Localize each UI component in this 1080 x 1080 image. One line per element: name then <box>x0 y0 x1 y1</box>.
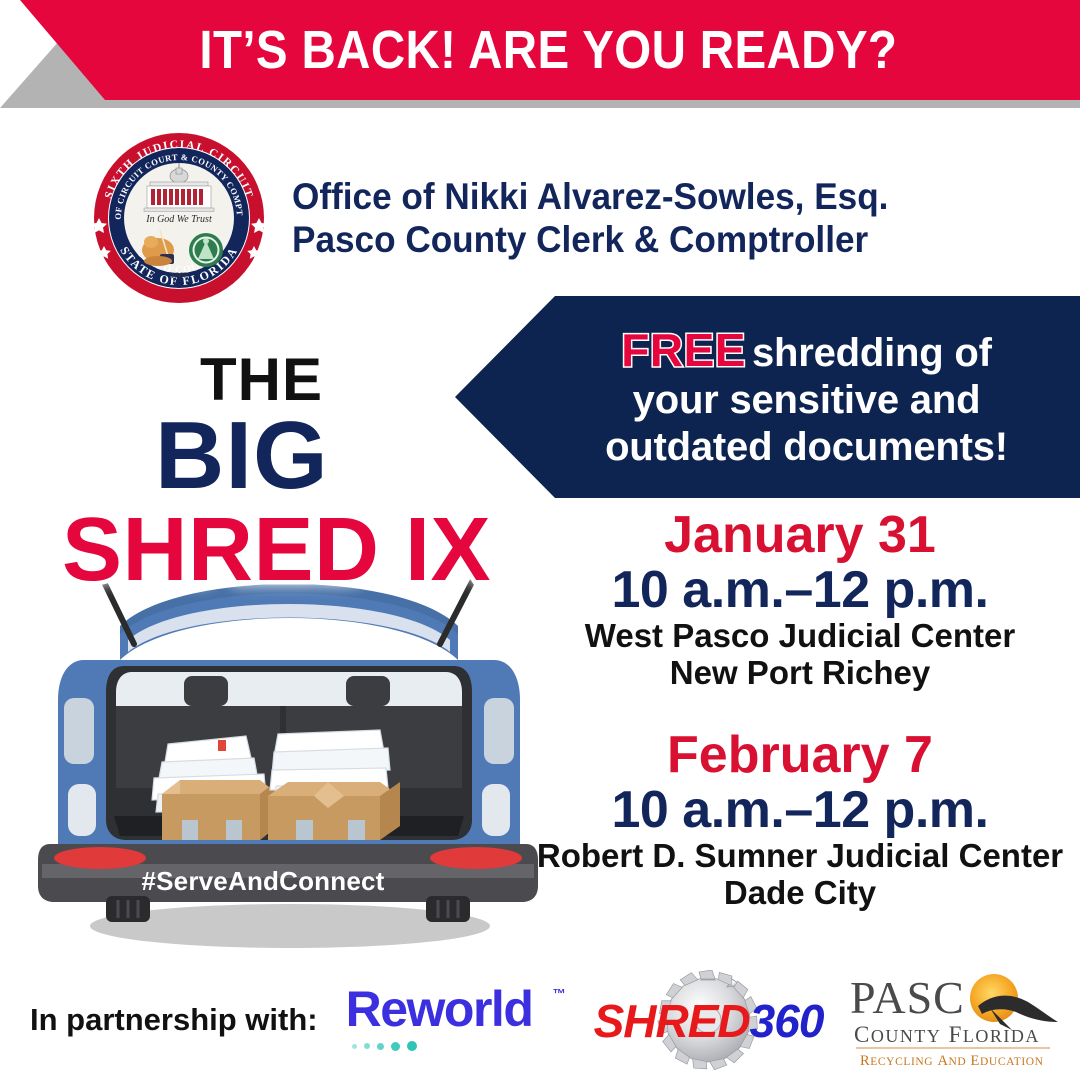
event-2-city: Dade City <box>520 875 1080 912</box>
reworld-logo: Reworld ™ <box>346 984 564 1056</box>
reworld-dots-icon <box>352 1041 564 1051</box>
partners-row: In partnership with: Reworld ™ <box>0 960 1080 1080</box>
shred360-wordmark: SHRED360 <box>594 998 824 1044</box>
svg-text:In God We Trust: In God We Trust <box>145 214 212 225</box>
event-item-1: January 31 10 a.m.–12 p.m. West Pasco Ju… <box>520 508 1080 692</box>
event-item-2: February 7 10 a.m.–12 p.m. Robert D. Sum… <box>520 728 1080 912</box>
county-florida-word: COUNTY FLORIDA <box>854 1022 1040 1047</box>
free-shredding-line2: your sensitive and <box>633 377 981 423</box>
title-big: BIG <box>155 408 329 504</box>
shred360-360-text: 360 <box>750 995 824 1047</box>
shred360-shred-text: SHRED <box>594 995 750 1047</box>
free-word: FREE <box>621 324 746 376</box>
pasco-county-recycling-logo: PASC COUNTY FLORIDA RECYCLING AND EDUCAT… <box>842 968 1064 1072</box>
title-shred-ix: SHRED IX <box>62 505 491 595</box>
title-the: THE <box>200 350 323 410</box>
svg-text:1887: 1887 <box>171 270 189 280</box>
free-shredding-banner: FREEshredding of your sensitive and outd… <box>455 296 1080 498</box>
brand-row: SIXTH JUDICIAL CIRCUIT STATE OF FLORIDA … <box>88 128 1048 308</box>
clerk-seal-icon: SIXTH JUDICIAL CIRCUIT STATE OF FLORIDA … <box>88 130 270 306</box>
event-1-date: January 31 <box>520 508 1080 563</box>
free-shredding-line3: outdated documents! <box>605 424 1008 470</box>
event-1-city: New Port Richey <box>520 655 1080 692</box>
free-shredding-line1-rest: shredding of <box>752 331 992 375</box>
header-banner-bar: IT’S BACK! ARE YOU READY? <box>0 0 1080 100</box>
office-title-line2: Pasco County Clerk & Comptroller <box>292 218 888 261</box>
event-1-time: 10 a.m.–12 p.m. <box>520 563 1080 618</box>
pasco-tagline: RECYCLING AND EDUCATION <box>860 1053 1044 1069</box>
header-headline: IT’S BACK! ARE YOU READY? <box>182 23 897 77</box>
flyer-canvas: IT’S BACK! ARE YOU READY? <box>0 0 1080 1080</box>
event-2-venue: Robert D. Sumner Judicial Center <box>520 838 1080 875</box>
shred360-logo: SHRED360 <box>590 970 820 1070</box>
partners-label: In partnership with: <box>30 1002 318 1038</box>
reworld-trademark-icon: ™ <box>553 986 566 1001</box>
event-2-date: February 7 <box>520 728 1080 783</box>
free-shredding-line1: FREEshredding of <box>621 324 992 377</box>
office-title-line1: Office of Nikki Alvarez-Sowles, Esq. <box>292 175 888 218</box>
event-divider-space <box>520 698 1080 728</box>
office-title: Office of Nikki Alvarez-Sowles, Esq. Pas… <box>292 175 920 262</box>
event-list: January 31 10 a.m.–12 p.m. West Pasco Ju… <box>520 508 1080 918</box>
event-2-time: 10 a.m.–12 p.m. <box>520 783 1080 838</box>
pasco-word: PASC <box>850 972 965 1023</box>
reworld-wordmark: Reworld <box>346 984 564 1034</box>
hashtag-serve-and-connect: #ServeAndConnect <box>28 866 498 897</box>
event-1-venue: West Pasco Judicial Center <box>520 618 1080 655</box>
header-banner: IT’S BACK! ARE YOU READY? <box>0 0 1080 112</box>
